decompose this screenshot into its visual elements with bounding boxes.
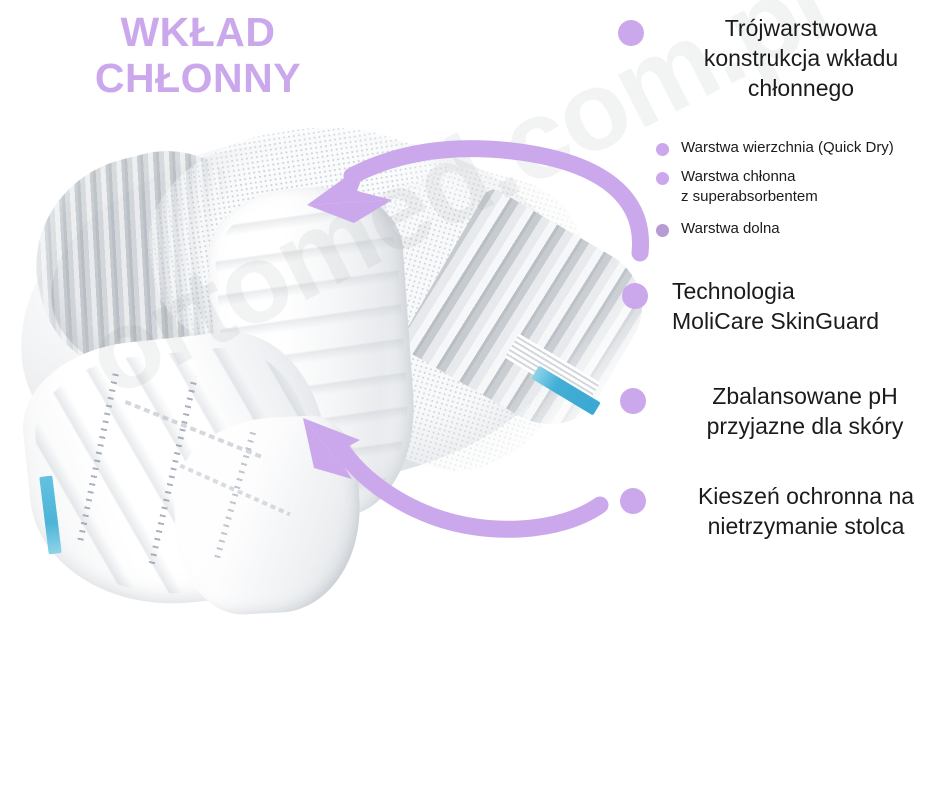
sub-bullet-label: Warstwa wierzchnia (Quick Dry) — [681, 138, 894, 158]
bullet-label: Kieszeń ochronna na nietrzymanie stolca — [666, 482, 940, 542]
sub-bullet-top-layer-quick-dry: Warstwa wierzchnia (Quick Dry) — [656, 138, 940, 158]
sub-bullet-absorbent-layer: Warstwa chłonna z superabsorbentem — [656, 167, 940, 206]
sub-bullet-dot-icon — [656, 172, 669, 185]
sub-bullet-label: Warstwa chłonna z superabsorbentem — [681, 167, 818, 206]
bullet-label: Zbalansowane pH przyjazne dla skóry — [668, 382, 940, 442]
draped-fold — [170, 413, 365, 617]
infographic-canvas: WKŁAD CHŁONNY ortomed.com.pl — [0, 0, 940, 788]
bullet-protective-pocket: Kieszeń ochronna na nietrzymanie stolca — [620, 482, 940, 542]
bullet-label: Trójwarstwowa konstrukcja wkładu chłonne… — [662, 14, 940, 104]
bullet-dot-icon — [618, 20, 644, 46]
bullet-dot-icon — [622, 283, 648, 309]
bullet-balanced-ph: Zbalansowane pH przyjazne dla skóry — [620, 382, 940, 442]
sub-bullet-dot-icon — [656, 224, 669, 237]
bullet-technology-skinguard: Technologia MoliCare SkinGuard — [622, 277, 940, 337]
sub-bullet-label: Warstwa dolna — [681, 219, 780, 239]
product-image — [0, 128, 625, 618]
bullet-three-layer-construction: Trójwarstwowa konstrukcja wkładu chłonne… — [618, 14, 940, 104]
bullet-label: Technologia MoliCare SkinGuard — [672, 277, 940, 337]
feature-list: Trójwarstwowa konstrukcja wkładu chłonne… — [610, 0, 940, 600]
bullet-dot-icon — [620, 388, 646, 414]
bullet-dot-icon — [620, 488, 646, 514]
sub-bullet-bottom-layer: Warstwa dolna — [656, 219, 940, 239]
sub-bullet-dot-icon — [656, 143, 669, 156]
page-title: WKŁAD CHŁONNY — [18, 10, 378, 102]
